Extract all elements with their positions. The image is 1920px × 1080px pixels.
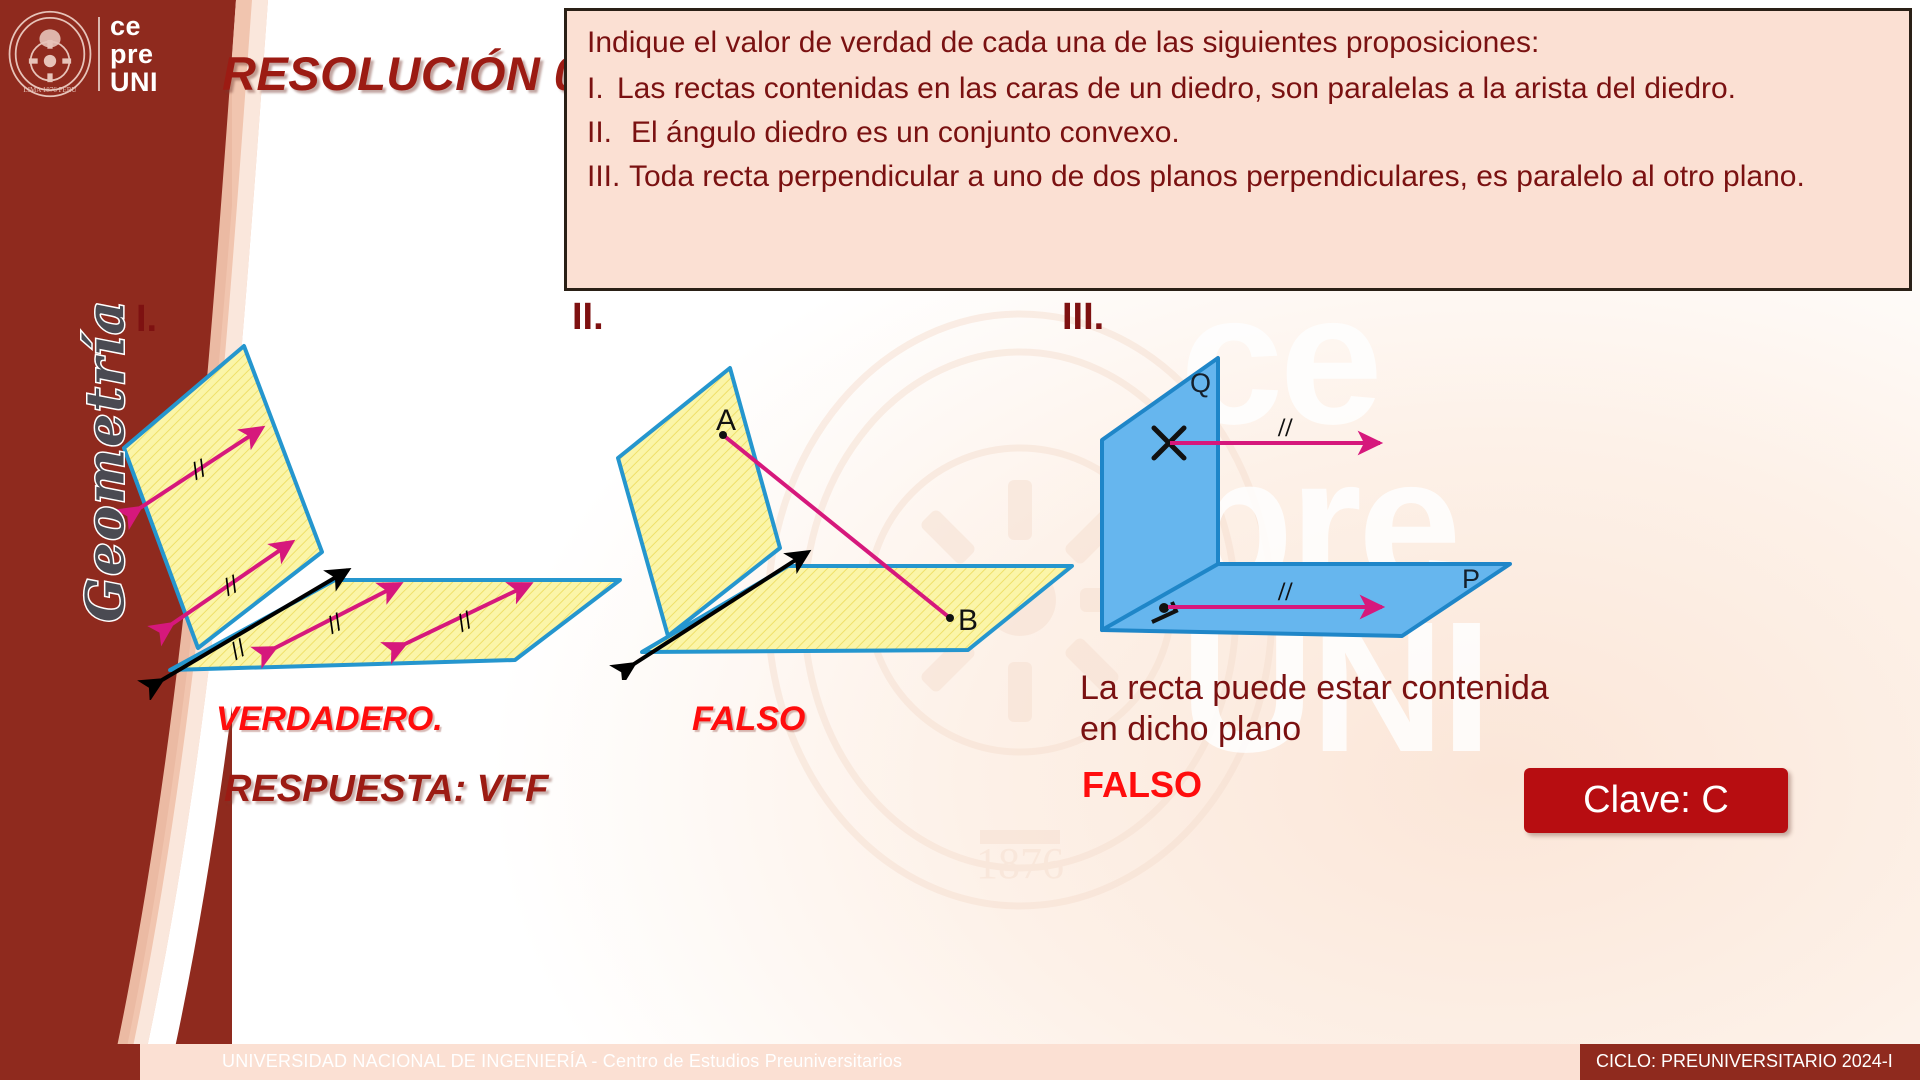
figure-3-verdict: FALSO — [1082, 764, 1202, 806]
statement-box: Indique el valor de verdad de cada una d… — [564, 8, 1912, 291]
proposition-1-text: Las rectas contenidas en las caras de un… — [617, 71, 1891, 106]
figure-3-tick-upper: // — [1277, 413, 1293, 442]
figure-3-plane-q-label: Q — [1190, 368, 1211, 398]
respuesta-label: RESPUESTA: VFF — [224, 768, 548, 811]
proposition-3-text: Toda recta perpendicular a uno de dos pl… — [629, 159, 1891, 194]
uni-seal-icon: LIMA 1876 PERU — [6, 10, 94, 98]
figure-3-perpendicular-planes: Q P // // — [1080, 330, 1550, 690]
figure-3-plane-p-label: P — [1462, 564, 1480, 594]
proposition-2: II. El ángulo diedro es un conjunto conv… — [587, 115, 1891, 150]
figure-2-point-b-label: B — [958, 604, 978, 637]
logo-text-line-1: ce — [110, 12, 158, 40]
footer-left-text: UNIVERSIDAD NACIONAL DE INGENIERÍA - Cen… — [222, 1051, 902, 1072]
figure-2-point-a-label: A — [716, 404, 736, 437]
figure-2-point-b-dot — [946, 614, 954, 622]
svg-text:LIMA 1876 PERU: LIMA 1876 PERU — [23, 86, 76, 94]
footer-bar: UNIVERSIDAD NACIONAL DE INGENIERÍA - Cen… — [0, 1044, 1920, 1080]
logo-text-line-3: UNI — [110, 68, 158, 96]
figure-3-foot-point — [1159, 603, 1169, 613]
clave-badge: Clave: C — [1524, 768, 1788, 833]
proposition-3: III. Toda recta perpendicular a uno de d… — [587, 159, 1891, 194]
statement-intro: Indique el valor de verdad de cada una d… — [587, 25, 1891, 61]
page-title: RESOLUCIÓN 03 — [222, 46, 607, 101]
proposition-1: I. Las rectas contenidas en las caras de… — [587, 71, 1891, 106]
figure-1-roman: I. — [136, 298, 157, 341]
proposition-2-number: II. — [587, 115, 631, 150]
figure-2-dihedral: A B — [590, 330, 1120, 680]
slide-canvas: 1876 ce pre UNI Geometría — [0, 0, 1920, 1080]
brand-logo: LIMA 1876 PERU ce pre UNI — [6, 6, 228, 102]
logo-divider — [98, 17, 100, 91]
proposition-2-text: El ángulo diedro es un conjunto convexo. — [631, 115, 1891, 150]
proposition-3-number: III. — [587, 159, 629, 194]
figure-2-roman: II. — [572, 296, 604, 339]
logo-text-line-2: pre — [110, 40, 158, 68]
svg-text:1876: 1876 — [976, 839, 1064, 888]
figure-1-dihedral: // // // // // — [110, 330, 670, 700]
figure-3-roman: III. — [1062, 296, 1104, 339]
figure-2-verdict: FALSO — [692, 700, 805, 739]
subject-label: Geometría — [76, 251, 137, 671]
figure-3-note: La recta puede estar contenida en dicho … — [1080, 668, 1550, 750]
logo-text: ce pre UNI — [110, 12, 158, 96]
figure-1-verdict: VERDADERO. — [216, 700, 443, 739]
footer-right-text: CICLO: PREUNIVERSITARIO 2024-I — [1596, 1051, 1893, 1072]
figure-3-tick-lower: // — [1277, 577, 1293, 606]
proposition-1-number: I. — [587, 71, 617, 106]
